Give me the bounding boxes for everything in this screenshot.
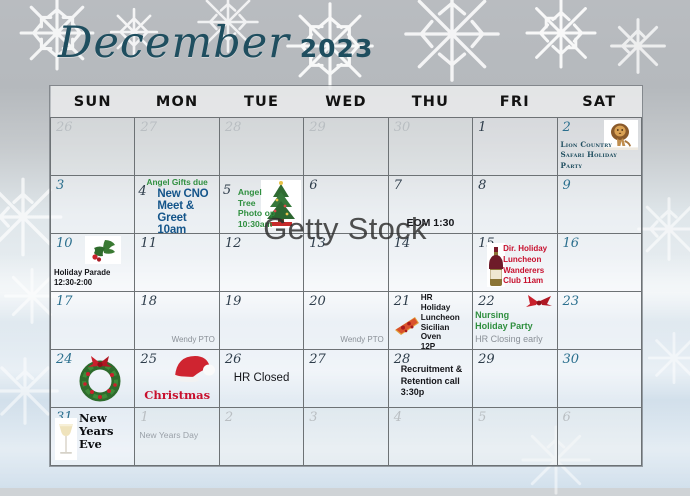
day-cell[interactable]: 1 xyxy=(473,118,557,176)
day-cell[interactable]: 18 Wendy PTO xyxy=(135,292,219,350)
calendar-week-row: 3 Angel Gifts due 4 New CNO Meet & Greet… xyxy=(51,176,642,234)
day-number: 16 xyxy=(558,235,580,250)
day-number: 4 xyxy=(389,409,402,424)
calendar-week-row: 17 18 Wendy PTO 19 20 Wendy PTO 21 xyxy=(51,292,642,350)
day-cell[interactable]: 3 xyxy=(51,176,135,234)
event-nursing-holiday-party: Nursing Holiday Party HR Closing early xyxy=(475,310,554,345)
day-cell[interactable]: 15 Dir. Holiday Luncheon Wande xyxy=(473,234,557,292)
day-number: 30 xyxy=(558,351,580,366)
day-number: 30 xyxy=(389,119,411,134)
day-cell[interactable]: 30 xyxy=(388,118,472,176)
day-cell[interactable]: 27 xyxy=(135,118,219,176)
day-cell[interactable]: 24 xyxy=(51,350,135,408)
calendar-title: December 2023 xyxy=(58,22,373,65)
event-line: Luncheon xyxy=(421,313,469,323)
event-line: Recruitment & xyxy=(401,364,469,376)
event-line: Photo op xyxy=(238,208,276,219)
day-number: 13 xyxy=(304,235,326,250)
day-number: 4 xyxy=(138,185,146,198)
weekday-tue: TUE xyxy=(219,86,303,118)
event-christmas: Christmas xyxy=(135,388,218,402)
day-cell[interactable]: 4 xyxy=(388,408,472,466)
day-cell[interactable]: 3 xyxy=(304,408,388,466)
day-cell[interactable]: 27 xyxy=(304,350,388,408)
day-number: 6 xyxy=(558,409,571,424)
day-cell[interactable]: 28 Recruitment & Retention call 3:30p xyxy=(388,350,472,408)
event-hr-holiday-luncheon: HR Holiday Luncheon Sicilian Oven 12P xyxy=(421,293,469,350)
day-number: 27 xyxy=(135,119,157,134)
event-angel-gifts-due: Angel Gifts due xyxy=(137,177,216,187)
day-cell[interactable]: 29 xyxy=(473,350,557,408)
event-line: Eve xyxy=(79,438,125,451)
day-number: 9 xyxy=(558,177,571,192)
weekday-header-row: SUN MON TUE WED THU FRI SAT xyxy=(51,86,642,118)
day-cell[interactable]: 9 xyxy=(557,176,641,234)
event-line: 12:30-2:00 xyxy=(54,278,120,288)
event-line: Holiday Parade xyxy=(54,268,120,278)
holly-photo-icon xyxy=(85,236,121,264)
day-number: 29 xyxy=(473,351,495,366)
event-line: Safari Holiday Party xyxy=(561,150,619,172)
day-cell[interactable]: 11 xyxy=(135,234,219,292)
event-line: 3:30p xyxy=(401,387,469,399)
day-cell[interactable]: 6 xyxy=(557,408,641,466)
day-cell[interactable]: 30 xyxy=(557,350,641,408)
day-number: 8 xyxy=(473,177,486,192)
weekday-thu: THU xyxy=(388,86,472,118)
day-number: 18 xyxy=(135,293,157,308)
event-line: 10:30am xyxy=(238,219,276,230)
event-line: Dir. Holiday xyxy=(503,244,555,255)
day-cell[interactable]: 23 xyxy=(557,292,641,350)
event-line: Holiday xyxy=(421,303,469,313)
day-cell[interactable]: 19 xyxy=(219,292,303,350)
event-line: HR xyxy=(421,293,469,303)
event-wendy-pto: Wendy PTO xyxy=(304,335,383,344)
day-cell[interactable]: 1 New Years Day xyxy=(135,408,219,466)
day-cell[interactable]: 2 xyxy=(219,408,303,466)
event-line: Nursing xyxy=(475,310,554,321)
calendar-week-row: 31 New Years Eve xyxy=(51,408,642,466)
event-lion-country: Lion Country Safari Holiday Party xyxy=(561,140,619,172)
calendar-week-row: 10 Holiday Parade 12:30-2:00 xyxy=(51,234,642,292)
day-number: 7 xyxy=(389,177,402,192)
santa-hat-photo-icon xyxy=(169,352,215,382)
day-cell[interactable]: 5 xyxy=(473,408,557,466)
day-cell[interactable]: 17 xyxy=(51,292,135,350)
event-line: Tree xyxy=(238,198,276,209)
day-number: 24 xyxy=(51,351,73,366)
day-number: 22 xyxy=(473,293,495,308)
day-number: 26 xyxy=(220,351,242,366)
day-number: 11 xyxy=(135,235,157,250)
day-cell[interactable]: 25 Christmas xyxy=(135,350,219,408)
day-number: 28 xyxy=(220,119,242,134)
day-number: 27 xyxy=(304,351,326,366)
event-angel-tree-photo-op: Angel Tree Photo op 10:30am xyxy=(238,187,276,230)
day-number: 23 xyxy=(558,293,580,308)
event-line: Meet & Greet xyxy=(157,200,219,224)
event-hr-closing-early: HR Closing early xyxy=(475,334,554,346)
event-line: Club 11am xyxy=(503,276,555,287)
day-number: 2 xyxy=(558,119,571,134)
month-label: December xyxy=(58,22,290,65)
day-cell[interactable]: 5 xyxy=(219,176,303,234)
day-number: 3 xyxy=(51,177,64,192)
day-number: 10 xyxy=(51,235,73,250)
calendar-week-row: 24 xyxy=(51,350,642,408)
day-cell[interactable]: 16 xyxy=(557,234,641,292)
day-cell[interactable]: 12 xyxy=(219,234,303,292)
calendar-week-row: 26 27 28 29 30 1 2 xyxy=(51,118,642,176)
day-cell[interactable]: 26 HR Closed xyxy=(219,350,303,408)
day-number: 20 xyxy=(304,293,326,308)
day-cell[interactable]: 14 xyxy=(388,234,472,292)
day-cell[interactable]: 20 Wendy PTO xyxy=(304,292,388,350)
day-number: 12 xyxy=(220,235,242,250)
event-holiday-parade: Holiday Parade 12:30-2:00 xyxy=(54,268,120,288)
day-cell[interactable]: 7 EOM 1:30 xyxy=(388,176,472,234)
day-cell[interactable]: 26 xyxy=(51,118,135,176)
year-label: 2023 xyxy=(300,34,374,63)
pizza-slice-photo-icon xyxy=(393,314,421,336)
day-number: 25 xyxy=(135,351,157,366)
event-line: New CNO xyxy=(157,188,219,200)
weekday-fri: FRI xyxy=(473,86,557,118)
day-number: 21 xyxy=(389,293,411,308)
event-dir-holiday-luncheon: Dir. Holiday Luncheon Wanderers Club 11a… xyxy=(503,244,555,287)
day-number: 17 xyxy=(51,293,73,308)
event-line: Sicilian xyxy=(421,323,469,333)
wreath-photo-icon xyxy=(77,354,123,402)
event-new-years-day: New Years Day xyxy=(139,430,216,440)
day-cell[interactable]: 29 xyxy=(304,118,388,176)
calendar-grid: SUN MON TUE WED THU FRI SAT 26 27 28 29 xyxy=(50,86,642,466)
day-number: 19 xyxy=(220,293,242,308)
day-cell[interactable]: 22 Nursing Holiday Party HR Closing earl… xyxy=(473,292,557,350)
weekday-mon: MON xyxy=(135,86,219,118)
day-number: 3 xyxy=(304,409,317,424)
event-line: 12P xyxy=(421,342,469,349)
day-cell[interactable]: 13 xyxy=(304,234,388,292)
event-new-cno-meet-greet: New CNO Meet & Greet 10am xyxy=(157,188,219,234)
event-line: Oven xyxy=(421,332,469,342)
day-number: 6 xyxy=(304,177,317,192)
event-line: Angel xyxy=(238,187,276,198)
day-cell[interactable]: 8 xyxy=(473,176,557,234)
event-hr-closed: HR Closed xyxy=(220,372,303,384)
event-recruitment-retention-call: Recruitment & Retention call 3:30p xyxy=(401,364,469,399)
day-number: 29 xyxy=(304,119,326,134)
event-line: Holiday Party xyxy=(475,321,554,332)
event-line: Luncheon xyxy=(503,255,555,266)
event-line: Lion Country xyxy=(561,140,619,151)
weekday-sun: SUN xyxy=(51,86,135,118)
day-number: 5 xyxy=(473,409,486,424)
event-new-years-eve: New Years Eve xyxy=(79,412,125,452)
day-cell[interactable]: 6 xyxy=(304,176,388,234)
event-wendy-pto: Wendy PTO xyxy=(135,335,214,344)
day-number: 5 xyxy=(223,184,231,197)
day-number: 26 xyxy=(51,119,73,134)
weekday-sat: SAT xyxy=(557,86,641,118)
champagne-glass-photo-icon xyxy=(55,418,77,460)
weekday-wed: WED xyxy=(304,86,388,118)
day-cell[interactable]: 28 xyxy=(219,118,303,176)
day-cell[interactable]: 21 HR Holiday L xyxy=(388,292,472,350)
day-number: 1 xyxy=(473,119,486,134)
day-number: 1 xyxy=(135,409,148,424)
day-cell[interactable]: 2 xyxy=(557,118,641,176)
day-cell[interactable]: 31 New Years Eve xyxy=(51,408,135,466)
event-eom: EOM 1:30 xyxy=(389,217,472,229)
event-line: Retention call xyxy=(401,376,469,388)
event-line: 10am xyxy=(157,224,219,234)
day-number: 2 xyxy=(220,409,233,424)
event-line: Wanderers xyxy=(503,266,555,277)
day-cell[interactable]: Angel Gifts due 4 New CNO Meet & Greet 1… xyxy=(135,176,219,234)
day-cell[interactable]: 10 Holiday Parade 12:30-2:00 xyxy=(51,234,135,292)
day-number: 14 xyxy=(389,235,411,250)
